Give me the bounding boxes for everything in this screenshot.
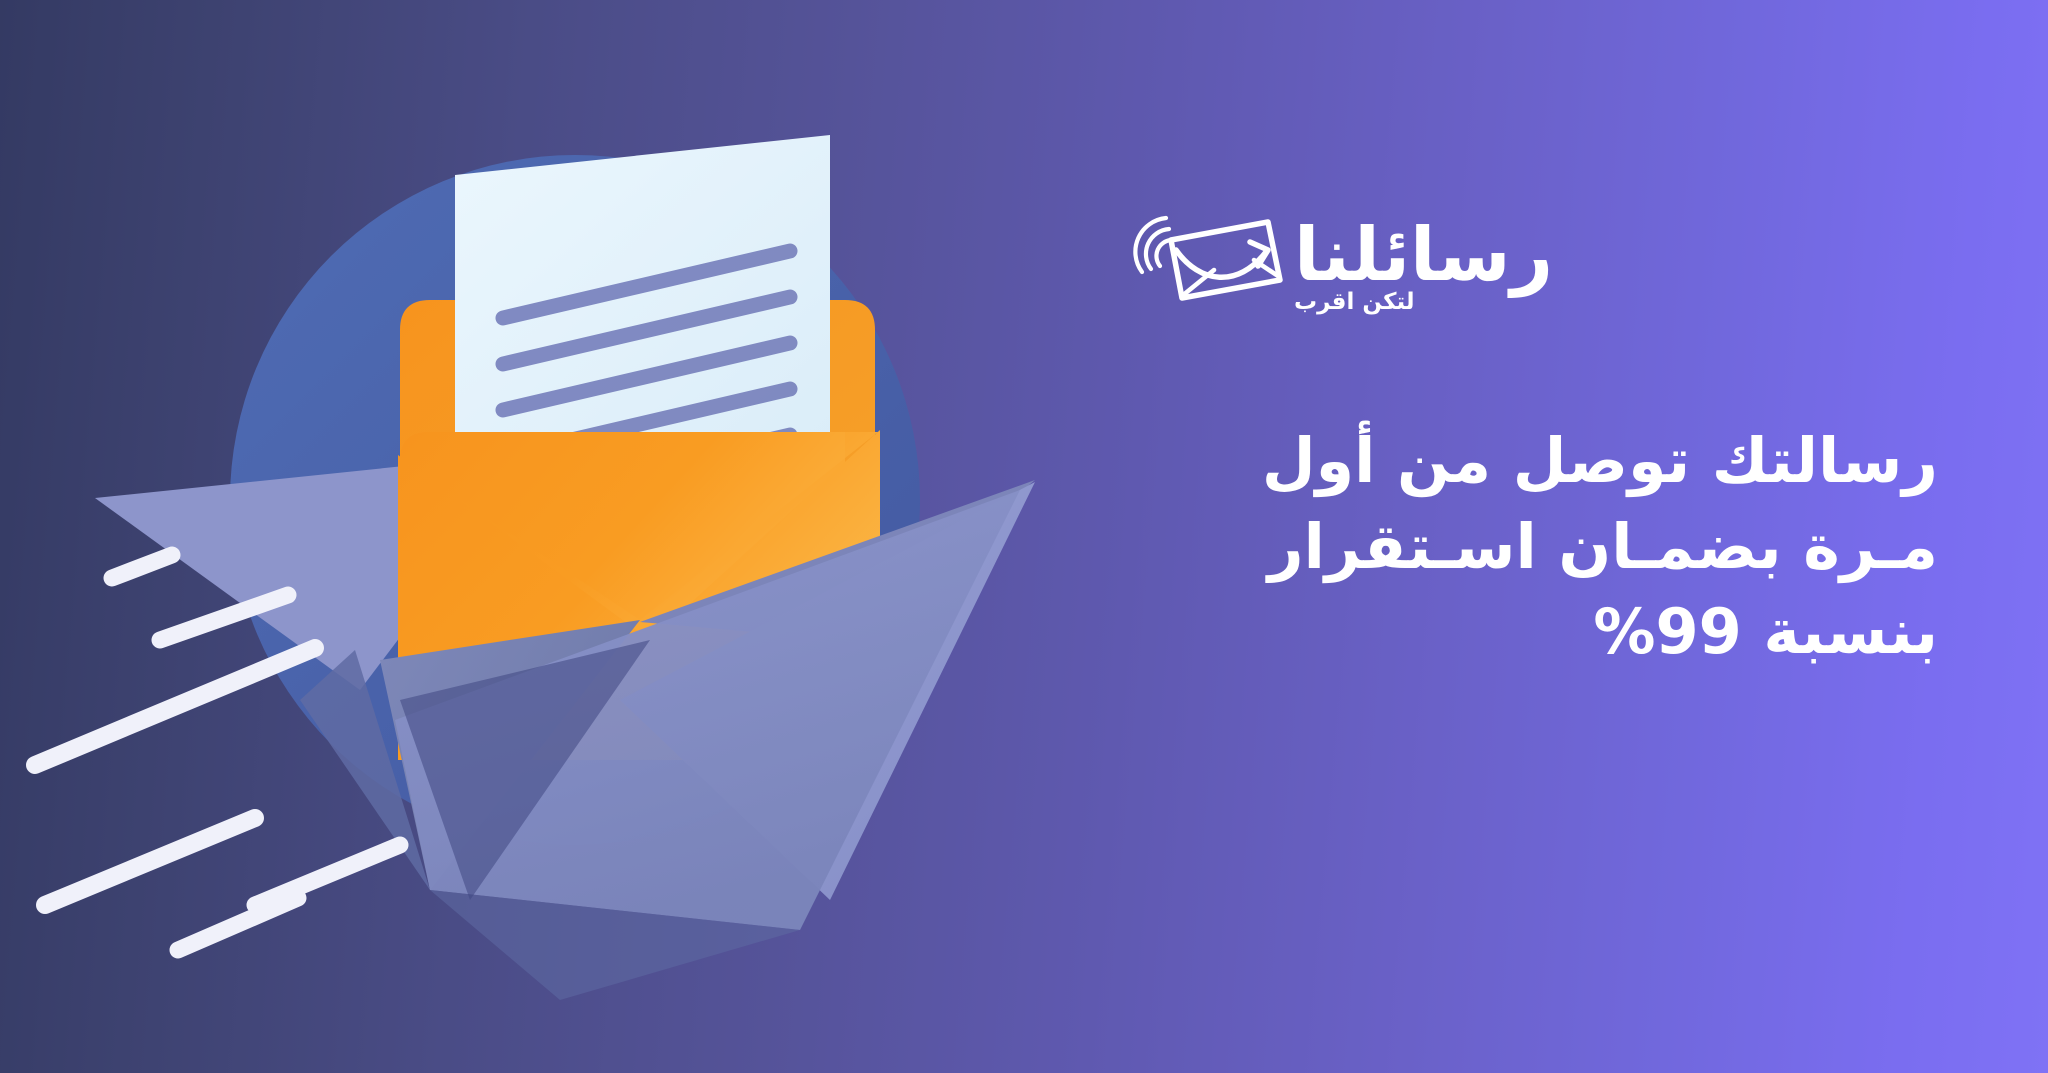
paper-plane-envelope-illustration bbox=[0, 0, 1060, 1073]
brand-tagline: لتكن اقرب bbox=[1294, 291, 1414, 314]
motion-streak bbox=[45, 818, 255, 905]
brand-name: رسائلنا bbox=[1294, 221, 1553, 289]
headline-line-3: بنسبة 99% bbox=[1108, 589, 1938, 675]
brand-wordmark: رسائلنا لتكن اقرب bbox=[1294, 196, 1553, 318]
headline-line-1: رسالتك توصل من أول bbox=[1108, 418, 1938, 504]
envelope-signal-icon bbox=[1108, 196, 1284, 314]
brand-logo[interactable]: رسائلنا لتكن اقرب bbox=[1108, 196, 1553, 318]
promo-banner: رسائلنا لتكن اقرب رسالتك توصل من أول مـر… bbox=[0, 0, 2048, 1073]
motion-streak bbox=[255, 845, 400, 905]
headline: رسالتك توصل من أول مـرة بضمـان اسـتقرار … bbox=[1108, 418, 1938, 675]
headline-line-2: مـرة بضمـان اسـتقرار bbox=[1108, 504, 1938, 590]
motion-streak bbox=[178, 898, 298, 950]
motion-streak bbox=[112, 555, 172, 578]
motion-streak bbox=[35, 648, 315, 765]
content-column: رسائلنا لتكن اقرب رسالتك توصل من أول مـر… bbox=[1108, 0, 1938, 1073]
